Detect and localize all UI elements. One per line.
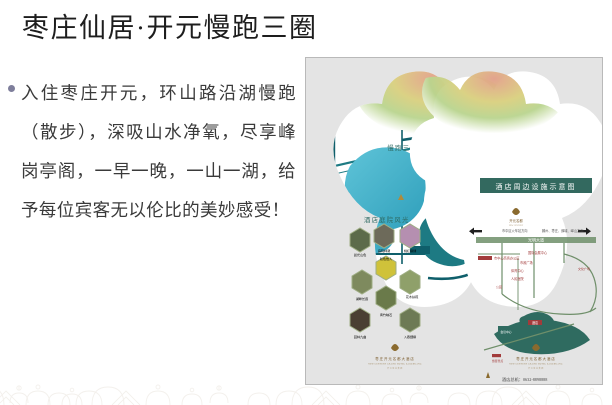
map-graphic: 国际会展中心 [528,250,548,255]
map-graphic: 庭院林荫 [378,248,390,253]
right-foot-top-label: 酒店周边设施示意图 [496,182,577,191]
map-graphic: 开元名都 [509,218,523,223]
map-graphic: 入春细柳 [404,334,416,339]
map-graphic: 园林九曲 [354,334,366,339]
map-graphic: NEW CENTURY GRAND HOTEL ZAOZHUANG [368,363,422,366]
map-graphic: 花木扶疏 [406,294,418,299]
map-graphic: 体育中心 [511,268,525,273]
map-graphic: 滕州、枣庄、薛城、峄山方向 [542,228,583,233]
footprint-map-image: 慢跑三圈示意图 酒店周边设施示意图 开元名都 NEW CENTURY [305,57,603,385]
map-graphic: 市中心商务办公区 [494,256,520,261]
map-graphic [478,256,492,260]
map-graphic: 晨光山色 [354,252,366,257]
map-graphic: NEW CENTURY [509,225,524,227]
map-graphic: 公园 [496,284,502,289]
map-graphic: 光明大道 [528,237,544,243]
page-title: 枣庄仙居·开元慢跑三圈 [22,10,318,46]
slide-canvas: 枣庄仙居·开元慢跑三圈 入住枣庄开元，环山路沿湖慢跑（散步），深吸山水净氧，尽享… [0,0,612,405]
bullet-icon [8,85,15,92]
map-graphic: 枣庄开元名都大酒店 [516,356,556,361]
map-graphic: 晨光山色 庭院林荫 桃红柳绿 [350,224,420,257]
map-graphic: NEW CENTURY GRAND HOTEL ZAOZHUANG [509,363,563,366]
map-graphic: 市政广场 [520,260,533,265]
footprint-illustration: 慢跑三圈示意图 酒店周边设施示意图 开元名都 NEW CENTURY [306,58,602,384]
map-graphic: 酒店 [532,320,538,325]
map-graphic [492,354,501,357]
map-graphic: 枣庄开元名都大酒店 [375,356,415,361]
body-text: 入住枣庄开元，环山路沿湖慢跑（散步），深吸山水净氧，尽享峰岗亭阁，一早一晚，一山… [21,74,296,230]
left-foot-bottom-label: 酒店庭院风光 [364,215,410,224]
map-graphic: 桃红柳绿 [404,248,416,253]
map-graphic: 秋色怡人 [380,256,392,261]
hotel-phone: 酒店总机：0632-8898888 [502,376,547,383]
map-graphic: 湖畔长廊 [356,296,368,301]
map-graphic: 会议中心 [500,330,511,334]
map-graphic: 旅游景点 [492,359,503,363]
body-bullet-block: 入住枣庄开元，环山路沿湖慢跑（散步），深吸山水净氧，尽享峰岗亭阁，一早一晚，一山… [8,74,296,230]
map-graphic: 文化广场 [578,266,590,271]
map-graphic: 市中区火车站方向 [502,228,528,233]
map-graphic: 人民医院 [511,276,525,281]
map-graphic: 青竹映石 [380,312,392,317]
